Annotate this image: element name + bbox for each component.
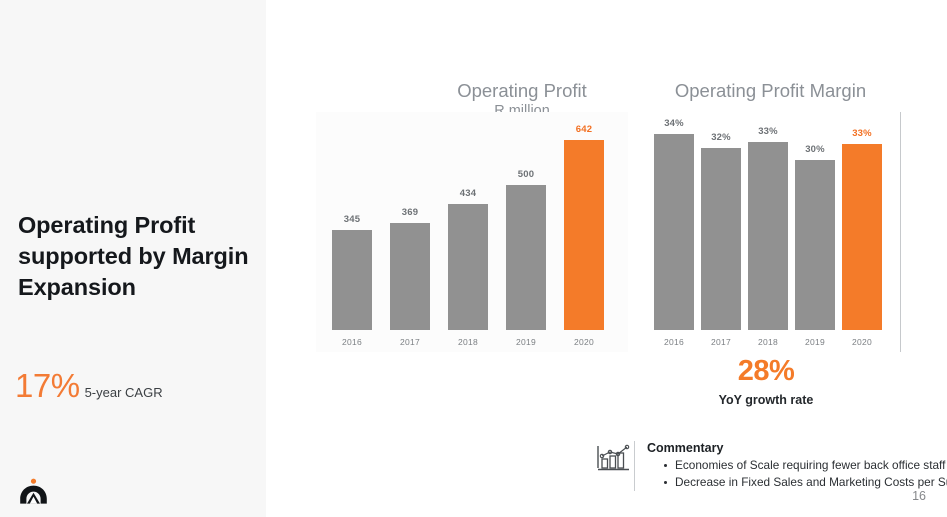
chart-1-bar-rect-2017 xyxy=(390,223,430,330)
chart-1-bar-rect-2016 xyxy=(332,230,372,330)
chart-1-plot-area: 345 2016 369 2017 434 2018 500 2019 xyxy=(316,112,628,352)
chart-1-bar-year-2017: 2017 xyxy=(382,337,438,347)
chart-2-bar-value-2018: 33% xyxy=(744,126,792,137)
chart-1-bar-value-2016: 345 xyxy=(328,214,376,225)
chart-2-bar-2020[interactable]: 33% 2020 xyxy=(842,144,882,330)
chart-1-bar-year-2016: 2016 xyxy=(324,337,380,347)
chart-1-bar-value-2017: 369 xyxy=(386,207,434,218)
chart-1-bar-2018[interactable]: 434 2018 xyxy=(448,204,488,330)
chart-divider xyxy=(900,112,901,352)
chart-1-bar-year-2020: 2020 xyxy=(556,337,612,347)
page-number: 16 xyxy=(912,489,926,503)
chart-1-bar-value-2019: 500 xyxy=(502,169,550,180)
commentary-title: Commentary xyxy=(647,441,947,455)
chart-2-bar-value-2020: 33% xyxy=(838,128,886,139)
cagr-value: 17% xyxy=(15,369,80,402)
chart-2-bar-2016[interactable]: 34% 2016 xyxy=(654,134,694,330)
chart-2-bar-year-2020: 2020 xyxy=(834,337,890,347)
yoy-growth-value: 28% xyxy=(696,357,836,386)
left-panel: Operating Profit supported by Margin Exp… xyxy=(0,0,266,517)
chart-1-bar-2019[interactable]: 500 2019 xyxy=(506,185,546,330)
chart-1-bar-2016[interactable]: 345 2016 xyxy=(332,230,372,330)
commentary-bullet: Economies of Scale requiring fewer back … xyxy=(675,457,947,474)
chart-2-bar-rect-2016 xyxy=(654,134,694,330)
chart-2-title: Operating Profit Margin xyxy=(628,80,913,101)
chart-2-bar-rect-2019 xyxy=(795,160,835,330)
chart-2-bar-rect-2018 xyxy=(748,142,788,330)
chart-2-bar-rect-2020 xyxy=(842,144,882,330)
chart-1-bar-2020[interactable]: 642 2020 xyxy=(564,140,604,330)
chart-1-bar-year-2018: 2018 xyxy=(440,337,496,347)
chart-1-bar-rect-2019 xyxy=(506,185,546,330)
commentary-section: Commentary Economies of Scale requiring … xyxy=(596,441,947,491)
chart-2-bar-value-2019: 30% xyxy=(791,144,839,155)
chart-1-title-text: Operating Profit xyxy=(457,80,587,101)
chart-1-bar-2017[interactable]: 369 2017 xyxy=(390,223,430,330)
chart-2-bar-value-2016: 34% xyxy=(650,118,698,129)
company-logo xyxy=(18,477,49,508)
bar-chart-trend-icon xyxy=(596,443,632,473)
chart-2-bar-2017[interactable]: 32% 2017 xyxy=(701,148,741,330)
chart-1-bar-value-2018: 434 xyxy=(444,188,492,199)
chart-2-bar-rect-2017 xyxy=(701,148,741,330)
chart-2-title-text: Operating Profit Margin xyxy=(675,80,866,101)
yoy-growth-callout: 28% YoY growth rate xyxy=(696,357,836,407)
chart-1-bar-rect-2018 xyxy=(448,204,488,330)
commentary-body: Commentary Economies of Scale requiring … xyxy=(647,441,947,491)
cagr-label: 5-year CAGR xyxy=(85,386,163,399)
chart-2-plot-area: 34% 2016 32% 2017 33% 2018 30% 2019 xyxy=(646,112,896,352)
cagr-callout: 17% 5-year CAGR xyxy=(15,369,163,402)
chart-2-bar-2018[interactable]: 33% 2018 xyxy=(748,142,788,330)
slide-canvas: Operating Profit supported by Margin Exp… xyxy=(0,0,947,517)
commentary-rule xyxy=(634,441,635,491)
content-area: Operating Profit R million 345 2016 369 … xyxy=(266,0,947,517)
chart-1-bar-year-2019: 2019 xyxy=(498,337,554,347)
chart-1-bar-rect-2020 xyxy=(564,140,604,330)
commentary-bullet: Decrease in Fixed Sales and Marketing Co… xyxy=(675,474,947,491)
chart-2-bar-value-2017: 32% xyxy=(697,132,745,143)
chart-2-bar-2019[interactable]: 30% 2019 xyxy=(795,160,835,330)
page-title: Operating Profit supported by Margin Exp… xyxy=(18,210,258,303)
chart-1-bar-value-2020: 642 xyxy=(560,124,608,135)
commentary-bullet-list: Economies of Scale requiring fewer back … xyxy=(647,457,947,491)
yoy-growth-label: YoY growth rate xyxy=(696,393,836,407)
